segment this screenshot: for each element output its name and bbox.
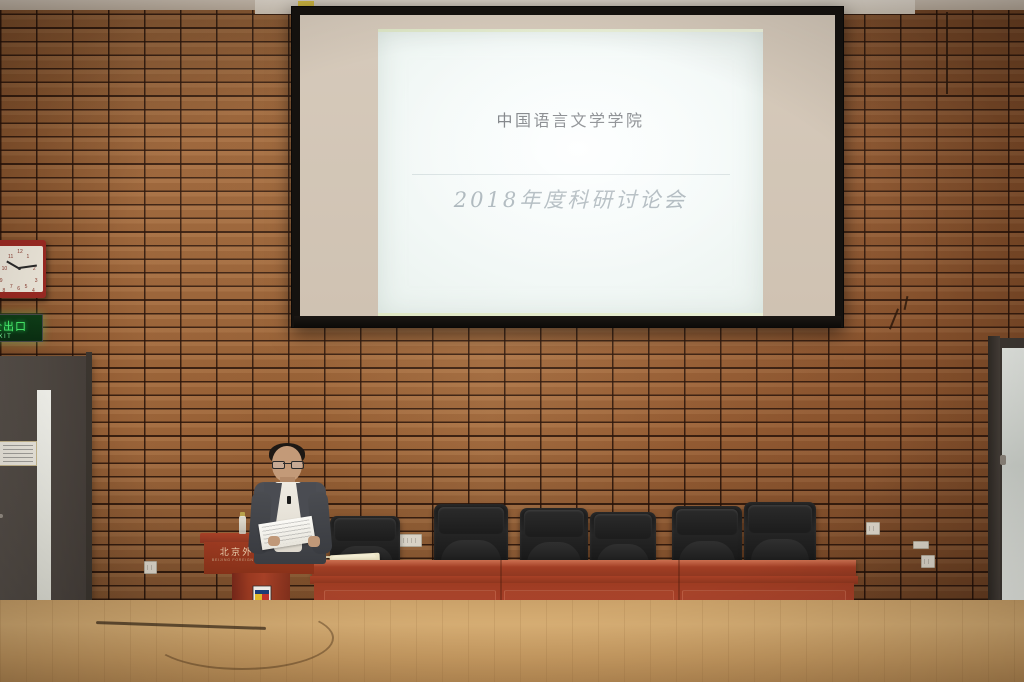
emergency-exit-sign: 全出口 EXIT	[0, 314, 43, 342]
wall-outlet-right-lower	[921, 555, 935, 568]
notice-text-lines	[3, 445, 33, 462]
right-door-leaf[interactable]	[988, 336, 1000, 624]
clock-numerals: 12 1 2 3 4 5 6 7 8 9 10 11	[0, 246, 43, 292]
screen-bottom-bar	[294, 316, 841, 327]
speaker-hand-right	[308, 536, 320, 547]
slide-subtitle: 2018年度科研讨论会	[378, 184, 763, 214]
slide-title: 中国语言文学学院	[378, 107, 763, 131]
right-open-doorway	[1002, 348, 1024, 610]
chair-headrest	[748, 505, 811, 534]
exit-sign-label-en: EXIT	[0, 334, 12, 340]
wall-outlet-right-upper	[866, 522, 880, 535]
water-bottle	[239, 516, 246, 534]
door-handle[interactable]	[0, 514, 3, 518]
clock-center-pin	[18, 267, 21, 270]
wall-clock: 12 1 2 3 4 5 6 7 8 9 10 11	[0, 240, 46, 298]
left-exit-door[interactable]	[0, 356, 90, 626]
screen-edge-top	[378, 29, 763, 32]
eyeglass-lens-right	[291, 461, 304, 469]
speaker-hand-left	[268, 536, 280, 546]
door-glass-panel	[37, 390, 51, 600]
left-door-frame	[86, 352, 92, 628]
projection-screen: 中国语言文学学院 2018年度科研讨论会	[291, 6, 844, 328]
chair-headrest	[676, 509, 738, 536]
chair-headrest	[524, 510, 584, 536]
slide-divider	[412, 174, 730, 175]
conference-hall-photo: 中国语言文学学院 2018年度科研讨论会 12 1 2 3 4 5 6 7 8 …	[0, 0, 1024, 682]
screen-mat: 中国语言文学学院 2018年度科研讨论会	[300, 15, 835, 317]
right-door-handle[interactable]	[1000, 455, 1006, 465]
screen-glare	[378, 29, 763, 317]
wall-switch-right	[913, 541, 929, 549]
lapel-microphone-icon	[287, 496, 291, 504]
chair-headrest	[438, 507, 503, 535]
screen-projection-surface: 中国语言文学学院 2018年度科研讨论会	[378, 29, 763, 317]
floor-court-marking	[150, 606, 334, 670]
clock-face: 12 1 2 3 4 5 6 7 8 9 10 11	[0, 246, 43, 292]
eyeglass-bridge	[283, 463, 291, 464]
table-gloss	[312, 560, 856, 567]
chair-headrest	[334, 518, 396, 541]
chair-headrest	[594, 514, 652, 538]
exit-sign-label-cn: 全出口	[0, 318, 27, 334]
hanging-cable	[946, 12, 948, 94]
wall-outlet-left	[144, 561, 157, 574]
eyeglasses-icon	[272, 461, 302, 467]
door-notice-sign	[0, 441, 37, 466]
speaker-person	[246, 444, 338, 574]
